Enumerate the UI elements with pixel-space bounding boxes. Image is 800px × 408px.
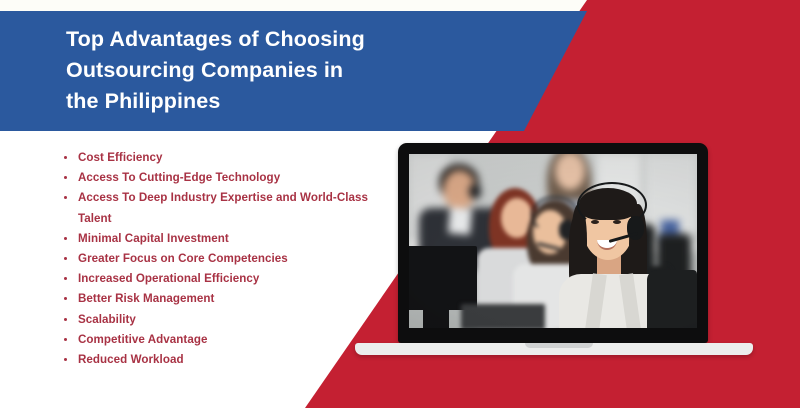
list-item-label: Cost Efficiency xyxy=(78,151,163,164)
list-item: Increased Operational Efficiency xyxy=(62,269,372,289)
bullet-dot-icon xyxy=(64,176,67,179)
list-item: Cost Efficiency xyxy=(62,148,372,168)
list-item-label: Competitive Advantage xyxy=(78,333,207,346)
laptop-illustration xyxy=(398,143,708,343)
list-item-label: Better Risk Management xyxy=(78,292,214,305)
bullet-dot-icon xyxy=(64,297,67,300)
list-item: Access To Cutting-Edge Technology xyxy=(62,168,372,188)
list-item-label: Reduced Workload xyxy=(78,353,184,366)
call-center-photo xyxy=(409,154,697,328)
advantages-list: Cost Efficiency Access To Cutting-Edge T… xyxy=(62,148,372,370)
page-title-line-2: Outsourcing Companies in xyxy=(66,55,486,86)
list-item: Minimal Capital Investment xyxy=(62,229,372,249)
bullet-dot-icon xyxy=(64,277,67,280)
list-item: Reduced Workload xyxy=(62,350,372,370)
list-item: Competitive Advantage xyxy=(62,330,372,350)
laptop-trackpad-notch xyxy=(525,343,593,348)
page-title-line-3: the Philippines xyxy=(66,86,486,117)
bullet-dot-icon xyxy=(64,156,67,159)
bullet-dot-icon xyxy=(64,257,67,260)
laptop-base xyxy=(355,343,753,355)
list-item-label: Access To Deep Industry Expertise and Wo… xyxy=(78,191,368,224)
poster-canvas: Top Advantages of Choosing Outsourcing C… xyxy=(0,0,800,408)
bullet-dot-icon xyxy=(64,196,67,199)
laptop-screen xyxy=(409,154,697,328)
bullet-dot-icon xyxy=(64,338,67,341)
list-item-label: Greater Focus on Core Competencies xyxy=(78,252,288,265)
page-title: Top Advantages of Choosing Outsourcing C… xyxy=(66,24,486,117)
list-item: Better Risk Management xyxy=(62,289,372,309)
list-item-label: Minimal Capital Investment xyxy=(78,232,229,245)
page-title-line-1: Top Advantages of Choosing xyxy=(66,24,486,55)
bullet-dot-icon xyxy=(64,318,67,321)
photo-vignette xyxy=(409,154,697,328)
list-item: Scalability xyxy=(62,310,372,330)
bullet-dot-icon xyxy=(64,237,67,240)
list-item-label: Access To Cutting-Edge Technology xyxy=(78,171,280,184)
list-item: Access To Deep Industry Expertise and Wo… xyxy=(62,188,372,228)
list-item-label: Increased Operational Efficiency xyxy=(78,272,259,285)
list-item-label: Scalability xyxy=(78,313,136,326)
bullet-dot-icon xyxy=(64,358,67,361)
list-item: Greater Focus on Core Competencies xyxy=(62,249,372,269)
